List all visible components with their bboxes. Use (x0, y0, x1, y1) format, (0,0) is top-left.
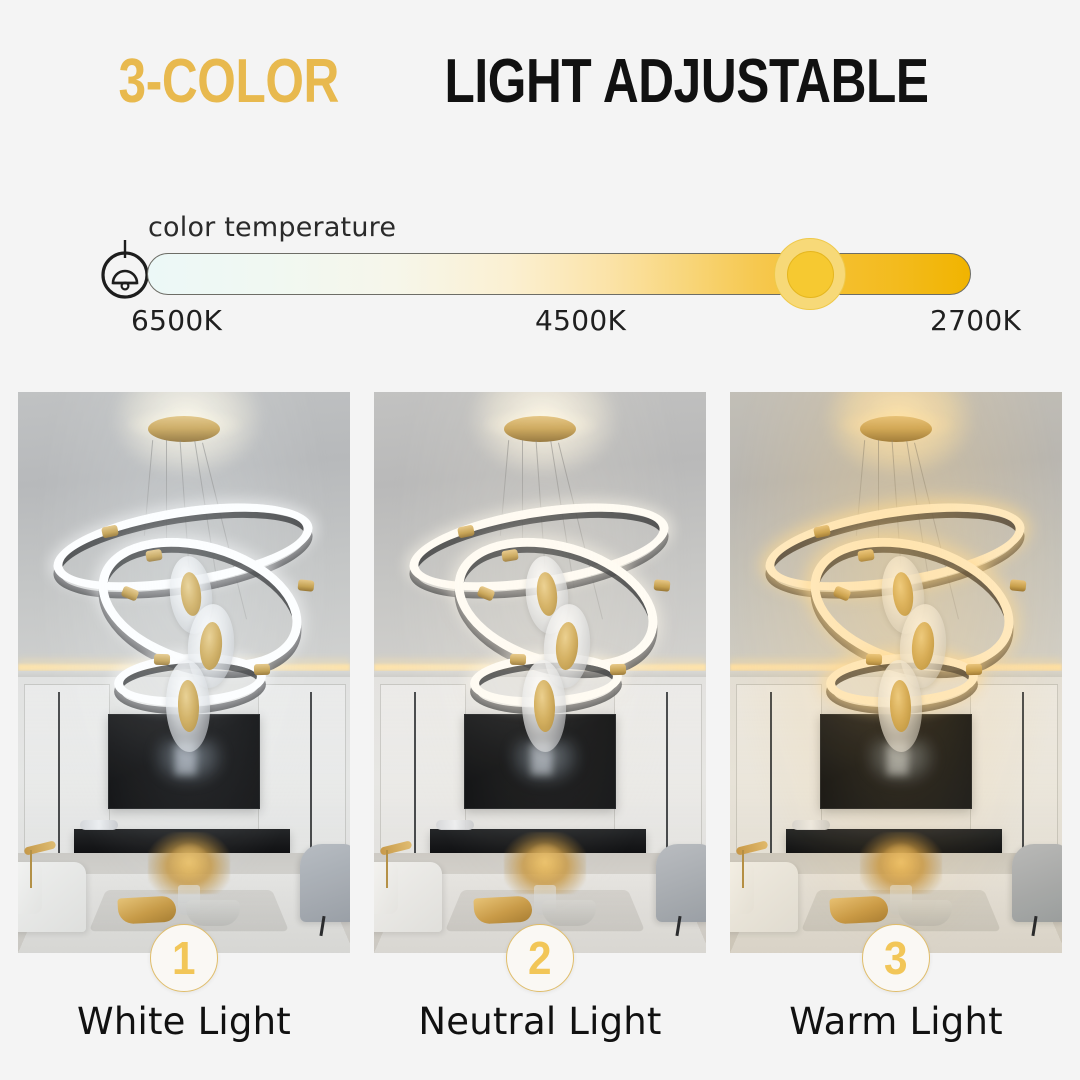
step-badge-2: 2 (506, 924, 574, 992)
title-highlight: 3-COLOR (119, 47, 339, 117)
gold-clip (866, 654, 882, 666)
accent-chair (656, 844, 706, 922)
ceiling-canopy (148, 416, 220, 442)
gold-clip (653, 579, 670, 592)
caption-warm-light: Warm Light (730, 1000, 1062, 1043)
wall-reveal-left (770, 692, 772, 860)
gold-bowl (829, 896, 888, 925)
color-temperature-track[interactable] (147, 253, 971, 295)
slider-max-label: 2700K (930, 304, 1021, 337)
panel-row (0, 392, 1080, 953)
title-rest: LIGHT ADJUSTABLE (444, 47, 928, 117)
wall-reveal-left (414, 692, 416, 860)
glass-bowl (898, 900, 952, 926)
gold-bowl (117, 896, 176, 925)
wall-reveal-right (666, 692, 668, 860)
accent-chair (1012, 844, 1062, 922)
floor-lamp-stem (386, 850, 388, 888)
color-temperature-slider-group: color temperature 6500K 4500K 2700K (0, 212, 1080, 337)
wall-reveal-left (58, 692, 60, 860)
gold-clip (254, 664, 270, 676)
ceiling-canopy (504, 416, 576, 442)
color-temperature-label: color temperature (148, 212, 396, 243)
panel-neutral-light[interactable] (374, 392, 706, 953)
page-title: 3-COLOR LIGHT ADJUSTABLE (0, 47, 1080, 117)
gold-bowl (473, 896, 532, 925)
slider-min-label: 6500K (131, 304, 222, 337)
floor-lamp-stem (742, 850, 744, 888)
caption-neutral-light: Neutral Light (374, 1000, 706, 1043)
gold-clip (1009, 579, 1026, 592)
color-temperature-handle[interactable] (774, 238, 846, 310)
console-decor (436, 820, 474, 830)
gold-clip (154, 654, 170, 666)
badge-number: 2 (528, 935, 552, 981)
console-decor (80, 820, 118, 830)
room-scene (374, 392, 706, 953)
glass-bowl (542, 900, 596, 926)
wall-reveal-right (310, 692, 312, 860)
console-decor (792, 820, 830, 830)
gold-clip (610, 664, 626, 676)
step-badge-3: 3 (862, 924, 930, 992)
panel-warm-light[interactable] (730, 392, 1062, 953)
badge-number: 3 (884, 935, 908, 981)
room-scene (730, 392, 1062, 953)
slider-mid-label: 4500K (535, 304, 626, 337)
caption-white-light: White Light (18, 1000, 350, 1043)
gold-clip (297, 579, 314, 592)
gold-clip (966, 664, 982, 676)
step-badge-1: 1 (150, 924, 218, 992)
room-scene (18, 392, 350, 953)
panel-white-light[interactable] (18, 392, 350, 953)
badge-number: 1 (172, 935, 196, 981)
floor-lamp-stem (30, 850, 32, 888)
gold-clip (510, 654, 526, 666)
glass-bowl (186, 900, 240, 926)
handle-core (787, 251, 834, 298)
pendant-lamp-icon (99, 238, 151, 300)
wall-reveal-right (1022, 692, 1024, 860)
ceiling-canopy (860, 416, 932, 442)
accent-chair (300, 844, 350, 922)
